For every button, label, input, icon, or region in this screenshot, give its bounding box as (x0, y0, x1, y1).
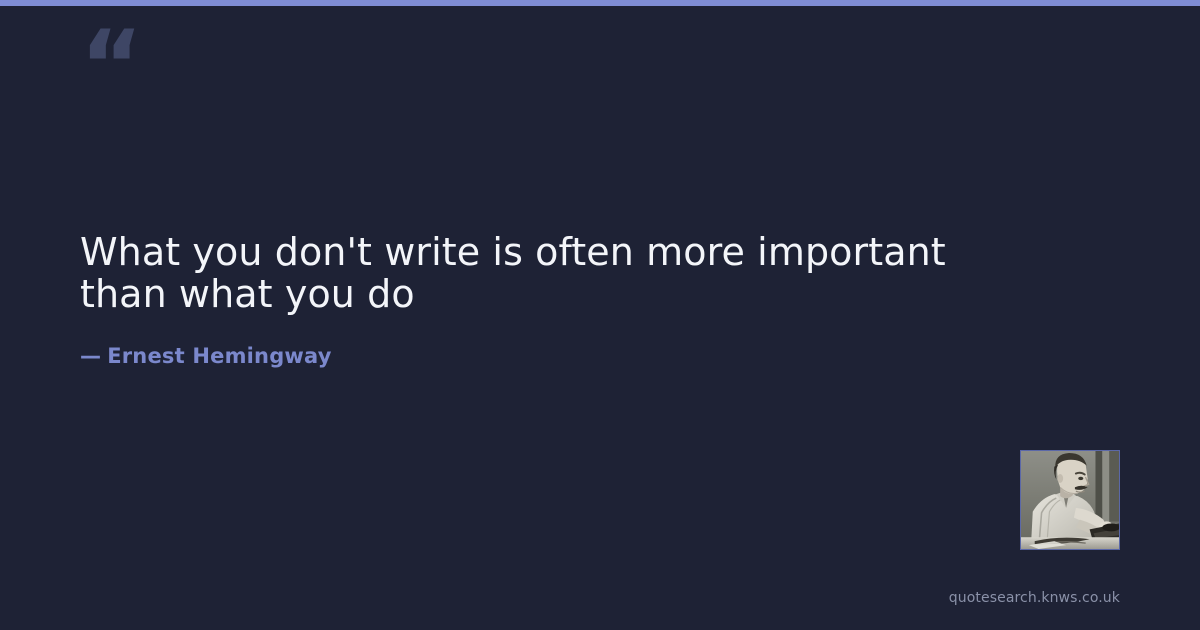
top-accent-bar (0, 0, 1200, 6)
quote-text: What you don't write is often more impor… (80, 232, 980, 316)
portrait-image (1021, 451, 1119, 549)
attribution-dash: — (80, 344, 101, 368)
quote-mark-icon: “ (80, 18, 141, 114)
source-url: quotesearch.knws.co.uk (949, 590, 1120, 606)
author-portrait (1020, 450, 1120, 550)
attribution: —Ernest Hemingway (80, 344, 332, 368)
attribution-author: Ernest Hemingway (107, 344, 331, 368)
